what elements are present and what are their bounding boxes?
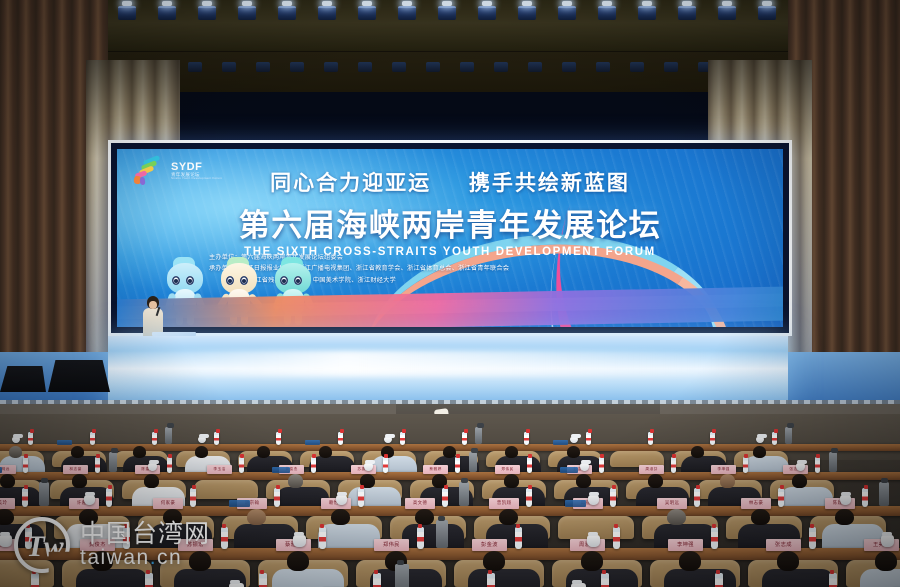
seat-name-card: 吴明远 bbox=[657, 498, 687, 509]
tea-cup bbox=[587, 535, 600, 547]
stage-light bbox=[198, 6, 216, 20]
water-bottle bbox=[809, 527, 816, 549]
audience-member-head bbox=[257, 446, 270, 458]
water-bottle bbox=[319, 527, 326, 549]
water-bottle bbox=[190, 488, 196, 506]
stage-light bbox=[558, 6, 576, 20]
tea-cup bbox=[84, 495, 95, 505]
seat-name-card: 王美玲 bbox=[0, 498, 15, 509]
seat-name-card: 高文德 bbox=[405, 498, 435, 509]
water-bottle bbox=[515, 527, 522, 549]
water-bottle bbox=[586, 432, 590, 445]
audience-member-head bbox=[71, 446, 84, 458]
audience-member-head bbox=[0, 474, 15, 488]
stage-light bbox=[518, 6, 536, 20]
water-bottle bbox=[90, 432, 94, 445]
seat-name-card: 何家豪 bbox=[153, 498, 183, 509]
water-bottle bbox=[610, 488, 616, 506]
tea-cup bbox=[0, 535, 12, 547]
thermos-flask bbox=[475, 427, 482, 444]
stage-light bbox=[118, 6, 136, 20]
water-bottle bbox=[239, 457, 244, 473]
thermos-flask bbox=[395, 564, 409, 587]
tea-cup bbox=[293, 535, 306, 547]
audience-member-body bbox=[664, 569, 737, 587]
audience-member-head bbox=[0, 509, 14, 526]
desk-monitor bbox=[272, 467, 290, 473]
water-bottle bbox=[743, 457, 748, 473]
water-bottle bbox=[815, 457, 820, 473]
stage-light bbox=[598, 6, 616, 20]
stage-floor bbox=[108, 336, 788, 404]
water-bottle bbox=[862, 488, 868, 506]
led-slogan-left: 同心合力迎亚运 bbox=[270, 172, 431, 195]
water-bottle bbox=[524, 432, 528, 445]
audience-member-head bbox=[504, 474, 520, 488]
water-bottle bbox=[648, 432, 652, 445]
audience-member-head bbox=[505, 446, 518, 458]
audience-member-head bbox=[288, 474, 304, 488]
audience-member-head bbox=[72, 474, 88, 488]
water-bottle bbox=[671, 457, 676, 473]
water-bottle bbox=[22, 488, 28, 506]
water-bottle bbox=[829, 573, 838, 587]
seat-name-card: 李玉洁 bbox=[207, 465, 232, 474]
stage-light bbox=[238, 6, 256, 20]
audience-member-head bbox=[415, 509, 433, 526]
desk-monitor bbox=[57, 440, 72, 445]
stage-light bbox=[158, 6, 176, 20]
watermark-en-right: cn bbox=[157, 546, 182, 569]
stage-light-back bbox=[256, 62, 270, 72]
audience-member-head bbox=[247, 509, 265, 526]
water-bottle bbox=[442, 488, 448, 506]
water-bottle bbox=[259, 573, 268, 587]
water-bottle bbox=[276, 432, 280, 445]
desk-monitor bbox=[229, 500, 250, 507]
stage-light bbox=[318, 6, 336, 20]
stage-light-back bbox=[528, 62, 542, 72]
audience-member-head bbox=[648, 474, 664, 488]
seat-name-card: 林志豪 bbox=[741, 498, 771, 509]
seat-name-card: 张志成 bbox=[766, 539, 802, 552]
water-bottle bbox=[417, 527, 424, 549]
audience-member-head bbox=[835, 509, 853, 526]
water-bottle bbox=[167, 457, 172, 473]
audience-member-head bbox=[9, 446, 22, 458]
water-bottle bbox=[274, 488, 280, 506]
stage-light-back bbox=[562, 62, 576, 72]
audience-member-body bbox=[860, 569, 900, 587]
water-bottle bbox=[455, 457, 460, 473]
led-slogan-right: 携手共绘新蓝图 bbox=[469, 172, 630, 195]
stage-light-back bbox=[596, 62, 610, 72]
thermos-flask bbox=[109, 452, 117, 472]
audience-member-head bbox=[875, 551, 897, 571]
thermos-flask bbox=[436, 520, 448, 548]
led-screen: SYDF 青年发展论坛 Straits Youth Development Fo… bbox=[108, 140, 792, 336]
desk-monitor bbox=[553, 440, 568, 445]
stage-light bbox=[718, 6, 736, 20]
lighting-truss-second-row bbox=[108, 52, 788, 96]
water-bottle bbox=[383, 457, 388, 473]
led-slogan: 同心合力迎亚运 携手共绘新蓝图 bbox=[117, 167, 783, 197]
tea-cup bbox=[229, 583, 244, 587]
seat-name-card: 曾凯翔 bbox=[489, 498, 519, 509]
led-headline-block: 同心合力迎亚运 携手共绘新蓝图 第六届海峡两岸青年发展论坛 THE SIXTH … bbox=[117, 167, 783, 258]
water-bottle bbox=[613, 527, 620, 549]
audience-member-head bbox=[792, 474, 808, 488]
thermos-flask bbox=[39, 482, 49, 506]
audience-member-head bbox=[691, 446, 704, 458]
thermos-flask bbox=[165, 427, 172, 444]
stage-light bbox=[278, 6, 296, 20]
water-bottle bbox=[23, 457, 28, 473]
water-bottle bbox=[778, 488, 784, 506]
water-bottle bbox=[311, 457, 316, 473]
water-bottle bbox=[95, 457, 100, 473]
audience-member-head bbox=[576, 474, 592, 488]
water-bottle bbox=[487, 573, 496, 587]
audience-member-head bbox=[443, 446, 456, 458]
conference-photo: SYDF 青年发展论坛 Straits Youth Development Fo… bbox=[0, 0, 900, 587]
audience-member-head bbox=[483, 551, 505, 571]
seat-name-card: 蔡雅婷 bbox=[423, 465, 448, 474]
audience-member-body bbox=[272, 569, 345, 587]
audience-member-head bbox=[499, 509, 517, 526]
audience-member-head bbox=[144, 474, 160, 488]
audience-member-head bbox=[287, 551, 309, 571]
water-bottle bbox=[373, 573, 382, 587]
stage-light-back bbox=[630, 62, 644, 72]
stage-light-back bbox=[494, 62, 508, 72]
audience-member-head bbox=[679, 551, 701, 571]
stage-light-back bbox=[460, 62, 474, 72]
desk-monitor bbox=[0, 467, 2, 473]
taiwan-cn-circle-icon: Tw bbox=[14, 517, 70, 573]
seat-name-card: 吴明远 bbox=[0, 465, 16, 474]
water-bottle bbox=[772, 432, 776, 445]
audience-member-head bbox=[319, 446, 332, 458]
audience-member-head bbox=[195, 446, 208, 458]
stage-light bbox=[638, 6, 656, 20]
seat-name-card: 周淑芬 bbox=[639, 465, 664, 474]
desk-monitor bbox=[565, 500, 586, 507]
audience-member-head bbox=[720, 474, 736, 488]
tea-cup bbox=[588, 495, 599, 505]
audience-member-head bbox=[581, 551, 603, 571]
stage-light bbox=[358, 6, 376, 20]
led-content: SYDF 青年发展论坛 Straits Youth Development Fo… bbox=[117, 149, 783, 327]
water-bottle bbox=[145, 573, 154, 587]
stage-light bbox=[438, 6, 456, 20]
water-bottle bbox=[214, 432, 218, 445]
stage-light bbox=[758, 6, 776, 20]
water-bottle bbox=[599, 457, 604, 473]
water-bottle bbox=[31, 573, 40, 587]
stage-light-back bbox=[188, 62, 202, 72]
water-bottle bbox=[400, 432, 404, 445]
audience-seat bbox=[194, 480, 258, 499]
seat-name-card: 彭金波 bbox=[472, 539, 508, 552]
thermos-flask bbox=[879, 482, 889, 506]
stage-light-back bbox=[358, 62, 372, 72]
water-bottle bbox=[152, 432, 156, 445]
stage-light bbox=[398, 6, 416, 20]
led-headline-cn: 第六届海峡两岸青年发展论坛 bbox=[117, 200, 783, 245]
thermos-flask bbox=[829, 452, 837, 472]
tea-cup bbox=[336, 495, 347, 505]
stage-light-back bbox=[664, 62, 678, 72]
water-bottle bbox=[106, 488, 112, 506]
tea-cup bbox=[881, 535, 894, 547]
seat-name-card: 郑伟民 bbox=[374, 539, 410, 552]
water-bottle bbox=[711, 527, 718, 549]
water-bottle bbox=[358, 488, 364, 506]
seat-name-card: 林志豪 bbox=[63, 465, 88, 474]
water-bottle bbox=[28, 432, 32, 445]
water-bottle bbox=[694, 488, 700, 506]
audience-member-body bbox=[762, 569, 835, 587]
thermos-flask bbox=[459, 482, 469, 506]
seat-name-card: 李坤强 bbox=[668, 539, 704, 552]
water-bottle bbox=[601, 573, 610, 587]
audience-member-head bbox=[753, 446, 766, 458]
watermark-en-dot: . bbox=[150, 546, 157, 569]
stage-light bbox=[678, 6, 696, 20]
tea-cup bbox=[840, 495, 851, 505]
tea-cup bbox=[571, 583, 586, 587]
stage-monitor-speaker-outer bbox=[0, 366, 46, 392]
stage-light-back bbox=[426, 62, 440, 72]
stage-monitor-speaker bbox=[48, 360, 110, 392]
audience-member-head bbox=[133, 446, 146, 458]
stage-light-back bbox=[392, 62, 406, 72]
stage-light-back bbox=[222, 62, 236, 72]
audience-member-head bbox=[751, 509, 769, 526]
desk-monitor bbox=[305, 440, 320, 445]
stage-light bbox=[478, 6, 496, 20]
watermark-cn: 中国台湾网 bbox=[80, 522, 210, 548]
water-bottle bbox=[338, 432, 342, 445]
thermos-flask bbox=[469, 452, 477, 472]
water-bottle bbox=[462, 432, 466, 445]
audience-member-head bbox=[667, 509, 685, 526]
stage-light-back bbox=[324, 62, 338, 72]
water-bottle bbox=[526, 488, 532, 506]
water-bottle bbox=[715, 573, 724, 587]
watermark-en-left: taiwan bbox=[80, 546, 150, 569]
water-bottle bbox=[710, 432, 714, 445]
watermark-logo: Tw 中国台湾网 taiwan.cn bbox=[14, 517, 210, 573]
watermark-mark: Tw bbox=[26, 532, 63, 562]
audience-member-head bbox=[777, 551, 799, 571]
seat-name-card: 李坤强 bbox=[711, 465, 736, 474]
audience-member-head bbox=[331, 509, 349, 526]
water-bottle bbox=[221, 527, 228, 549]
watermark-en: taiwan.cn bbox=[80, 547, 210, 568]
water-bottle bbox=[527, 457, 532, 473]
desk-monitor bbox=[560, 467, 578, 473]
stage-light-back bbox=[290, 62, 304, 72]
audience-member-body bbox=[468, 569, 541, 587]
seat-name-card: 郑伟民 bbox=[495, 465, 520, 474]
audience-member-head bbox=[567, 446, 580, 458]
thermos-flask bbox=[785, 427, 792, 444]
